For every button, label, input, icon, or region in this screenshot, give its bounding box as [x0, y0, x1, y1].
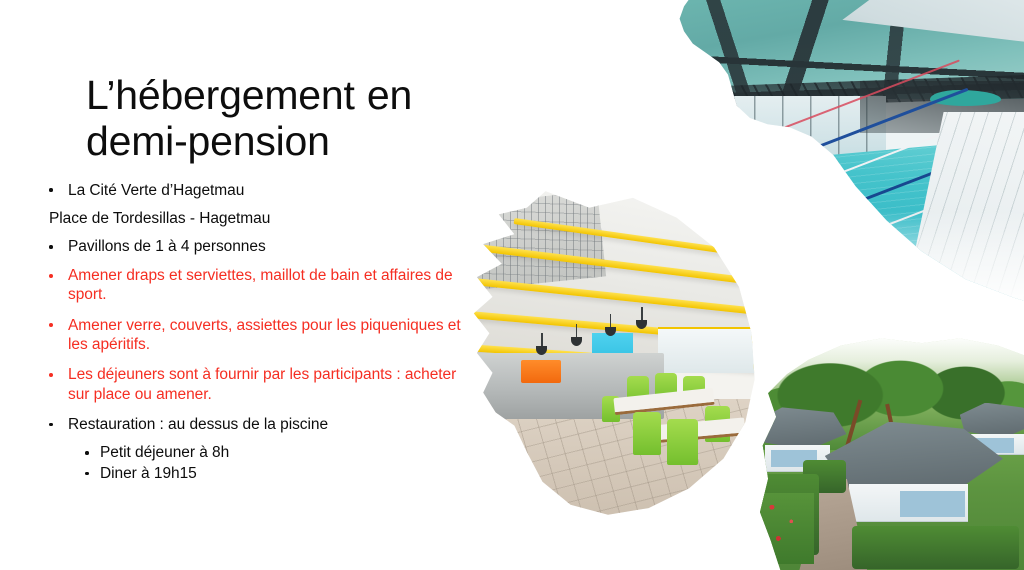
bullet-dot-icon — [49, 274, 53, 278]
presentation-slide: L’hébergement en demi-pension La Cité Ve… — [0, 0, 1024, 570]
pavilions-photo-content — [760, 336, 1024, 570]
list-item: Place de Tordesillas - Hagetmau — [44, 209, 464, 228]
cafeteria-orange-crates — [521, 360, 562, 383]
sub-list-item: Petit déjeuner à 8h — [44, 443, 464, 462]
list-item-highlight: Amener draps et serviettes, maillot de b… — [44, 266, 464, 305]
pendant-lamp-icon — [605, 327, 616, 336]
list-item-highlight: Les déjeuners sont à fournir par les par… — [44, 365, 464, 404]
cafeteria-photo — [452, 188, 764, 518]
cafeteria-window — [658, 327, 758, 373]
garden-hedge — [852, 526, 1019, 569]
list-item-label: La Cité Verte d’Hagetmau — [68, 182, 244, 199]
cafeteria-chair — [667, 419, 698, 465]
cafeteria-photo-content — [452, 188, 764, 518]
list-item-label: Pavillons de 1 à 4 personnes — [68, 238, 266, 255]
list-item: La Cité Verte d’Hagetmau — [44, 181, 464, 200]
sub-list-item-label: Diner à 19h15 — [100, 465, 197, 482]
list-item-label: Amener verre, couverts, assiettes pour l… — [68, 317, 461, 353]
bullet-dot-icon — [49, 423, 53, 427]
bullet-dot-icon — [49, 188, 53, 192]
bullet-dot-icon — [49, 323, 53, 327]
sub-list-item-label: Petit déjeuner à 8h — [100, 444, 229, 461]
bullet-dot-icon — [49, 373, 53, 377]
list-item-label: Amener draps et serviettes, maillot de b… — [68, 267, 453, 303]
bullet-dot-icon — [85, 472, 89, 476]
sub-list-item: Diner à 19h15 — [44, 464, 464, 483]
pavilion-window — [900, 491, 965, 517]
page-title: L’hébergement en demi-pension — [44, 72, 464, 165]
cafeteria-chair — [633, 412, 661, 455]
garden-flowers — [760, 493, 814, 564]
list-item-highlight: Amener verre, couverts, assiettes pour l… — [44, 316, 464, 355]
list-item: Pavillons de 1 à 4 personnes — [44, 237, 464, 256]
bullet-dot-icon — [49, 245, 53, 249]
slide-text-column: L’hébergement en demi-pension La Cité Ve… — [44, 72, 464, 484]
pavilions-aerial-photo — [760, 336, 1024, 570]
list-item-label: Restauration : au dessus de la piscine — [68, 416, 328, 433]
pendant-lamp-icon — [571, 337, 582, 346]
list-item-label: Place de Tordesillas - Hagetmau — [49, 210, 270, 227]
list-item-label: Les déjeuners sont à fournir par les par… — [68, 366, 456, 402]
bullet-dot-icon — [85, 451, 89, 455]
cafeteria-ceiling-grate — [454, 191, 606, 291]
list-item: Restauration : au dessus de la piscine — [44, 415, 464, 434]
bullet-list: La Cité Verte d’Hagetmau Place de Tordes… — [44, 181, 464, 484]
